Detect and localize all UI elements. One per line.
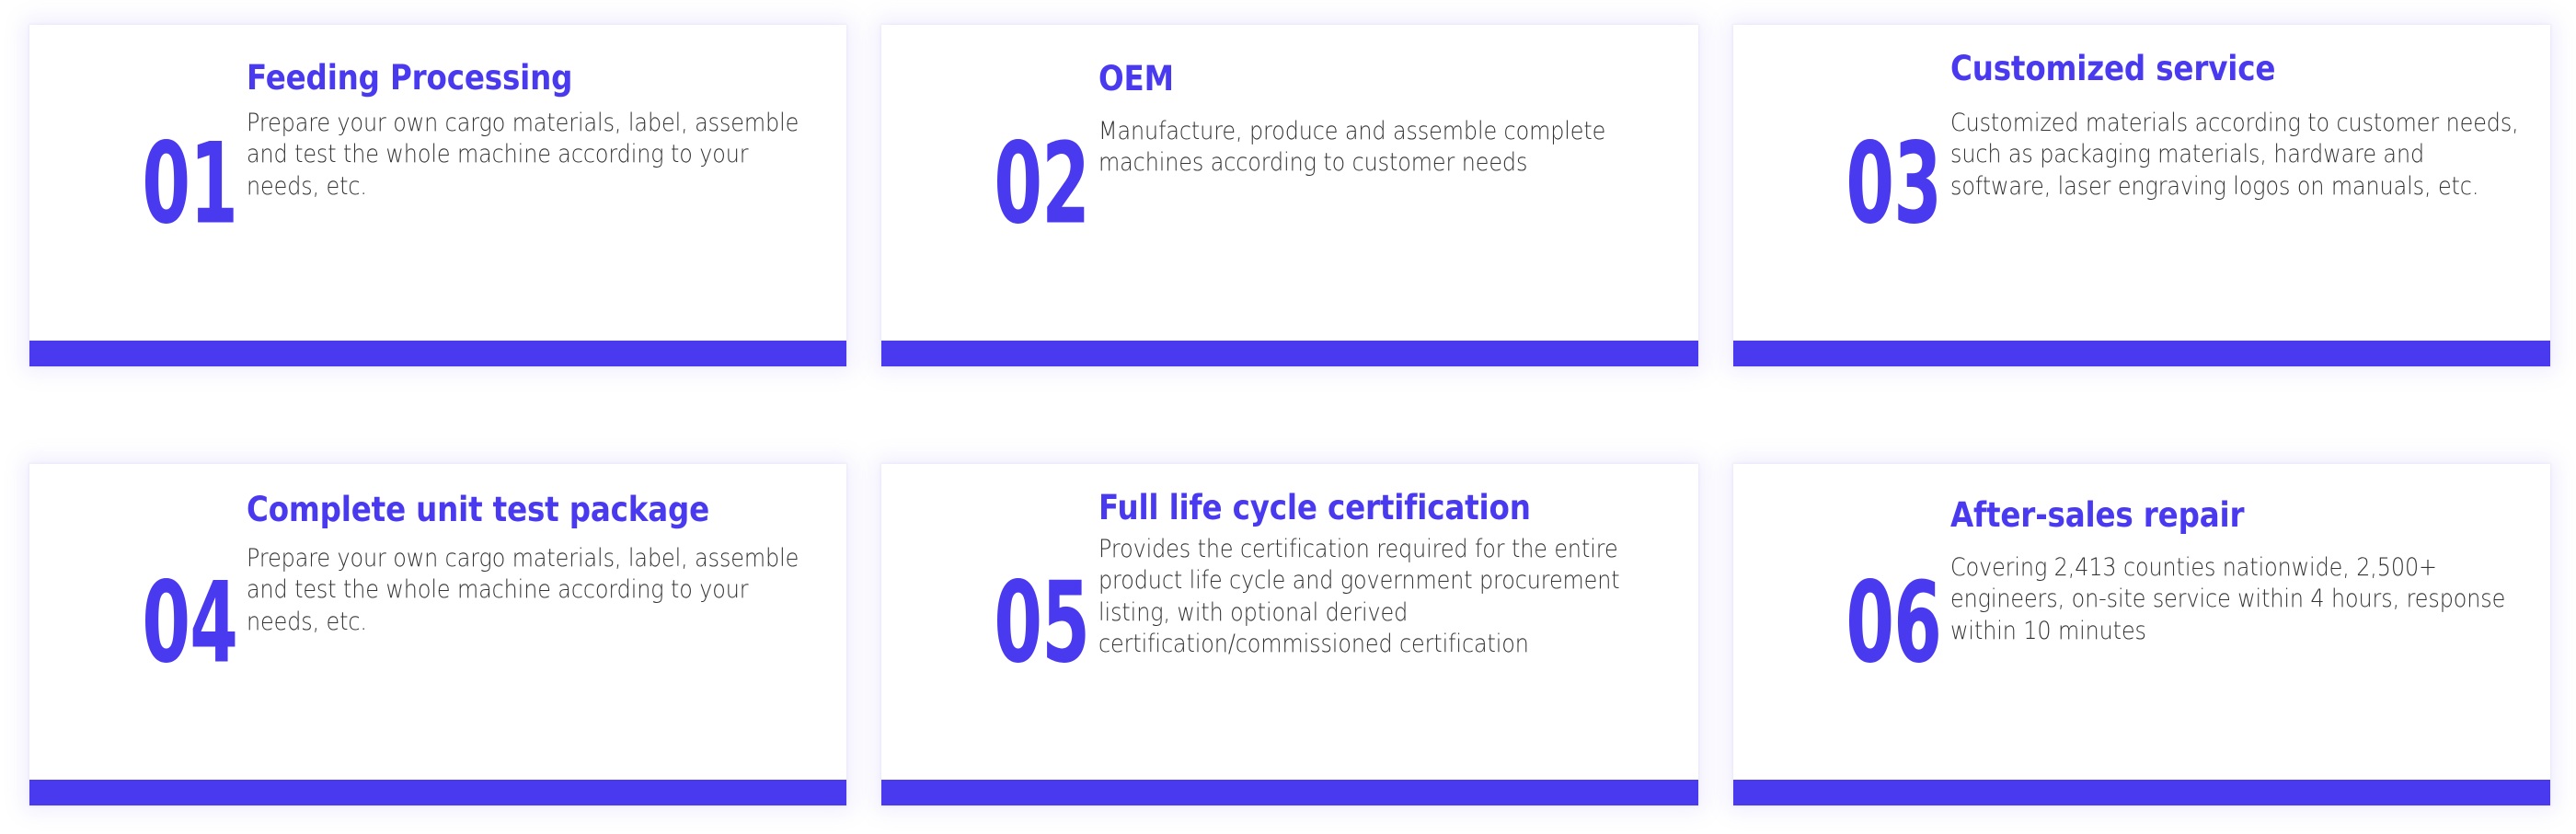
feature-card-04[interactable]: 04 Complete unit test package Prepare yo… — [29, 464, 846, 805]
feature-card-text-block: Complete unit test package Prepare your … — [247, 468, 826, 638]
feature-card-title: Complete unit test package — [247, 490, 826, 530]
feature-card-text-block: OEM Manufacture, produce and assemble co… — [1098, 29, 1678, 180]
feature-card-accent-bar — [881, 341, 1698, 366]
feature-card-number: 02 — [947, 133, 1098, 236]
feature-card-text-block: After-sales repair Covering 2,413 counti… — [1950, 468, 2530, 647]
feature-card-content: 01 Feeding Processing Prepare your own c… — [29, 25, 846, 341]
feature-card-accent-bar — [29, 780, 846, 805]
feature-card-description: Provides the certification required for … — [1098, 534, 1678, 661]
feature-card-content: 05 Full life cycle certification Provide… — [881, 464, 1698, 780]
feature-card-text-block: Full life cycle certification Provides t… — [1098, 468, 1678, 660]
feature-card-title: After-sales repair — [1950, 495, 2530, 536]
feature-card-number: 05 — [947, 573, 1098, 675]
service-feature-board: 01 Feeding Processing Prepare your own c… — [0, 0, 2576, 834]
feature-card-03[interactable]: 03 Customized service Customized materia… — [1733, 25, 2550, 366]
feature-card-accent-bar — [1733, 341, 2550, 366]
feature-card-description: Prepare your own cargo materials, label,… — [247, 543, 826, 638]
feature-card-accent-bar — [29, 341, 846, 366]
feature-card-accent-bar — [881, 780, 1698, 805]
feature-card-description: Manufacture, produce and assemble comple… — [1098, 116, 1678, 180]
feature-card-text-block: Feeding Processing Prepare your own carg… — [247, 29, 826, 203]
feature-card-01[interactable]: 01 Feeding Processing Prepare your own c… — [29, 25, 846, 366]
feature-card-content: 06 After-sales repair Covering 2,413 cou… — [1733, 464, 2550, 780]
feature-card-description: Covering 2,413 counties nationwide, 2,50… — [1950, 552, 2530, 647]
feature-card-content: 03 Customized service Customized materia… — [1733, 25, 2550, 341]
feature-card-title: OEM — [1098, 59, 1678, 99]
feature-card-number: 04 — [95, 573, 247, 675]
feature-card-accent-bar — [1733, 780, 2550, 805]
feature-card-description: Customized materials according to custom… — [1950, 108, 2530, 203]
feature-card-content: 04 Complete unit test package Prepare yo… — [29, 464, 846, 780]
feature-card-content: 02 OEM Manufacture, produce and assemble… — [881, 25, 1698, 341]
feature-card-05[interactable]: 05 Full life cycle certification Provide… — [881, 464, 1698, 805]
feature-card-number: 06 — [1799, 573, 1950, 675]
feature-card-number: 01 — [95, 133, 247, 236]
feature-card-description: Prepare your own cargo materials, label,… — [247, 108, 826, 203]
feature-card-text-block: Customized service Customized materials … — [1950, 29, 2530, 203]
feature-card-title: Customized service — [1950, 49, 2530, 89]
feature-card-title: Full life cycle certification — [1098, 488, 1678, 528]
feature-card-02[interactable]: 02 OEM Manufacture, produce and assemble… — [881, 25, 1698, 366]
feature-card-number: 03 — [1799, 133, 1950, 236]
feature-card-06[interactable]: 06 After-sales repair Covering 2,413 cou… — [1733, 464, 2550, 805]
feature-card-title: Feeding Processing — [247, 58, 826, 98]
feature-card-grid: 01 Feeding Processing Prepare your own c… — [29, 25, 2551, 805]
